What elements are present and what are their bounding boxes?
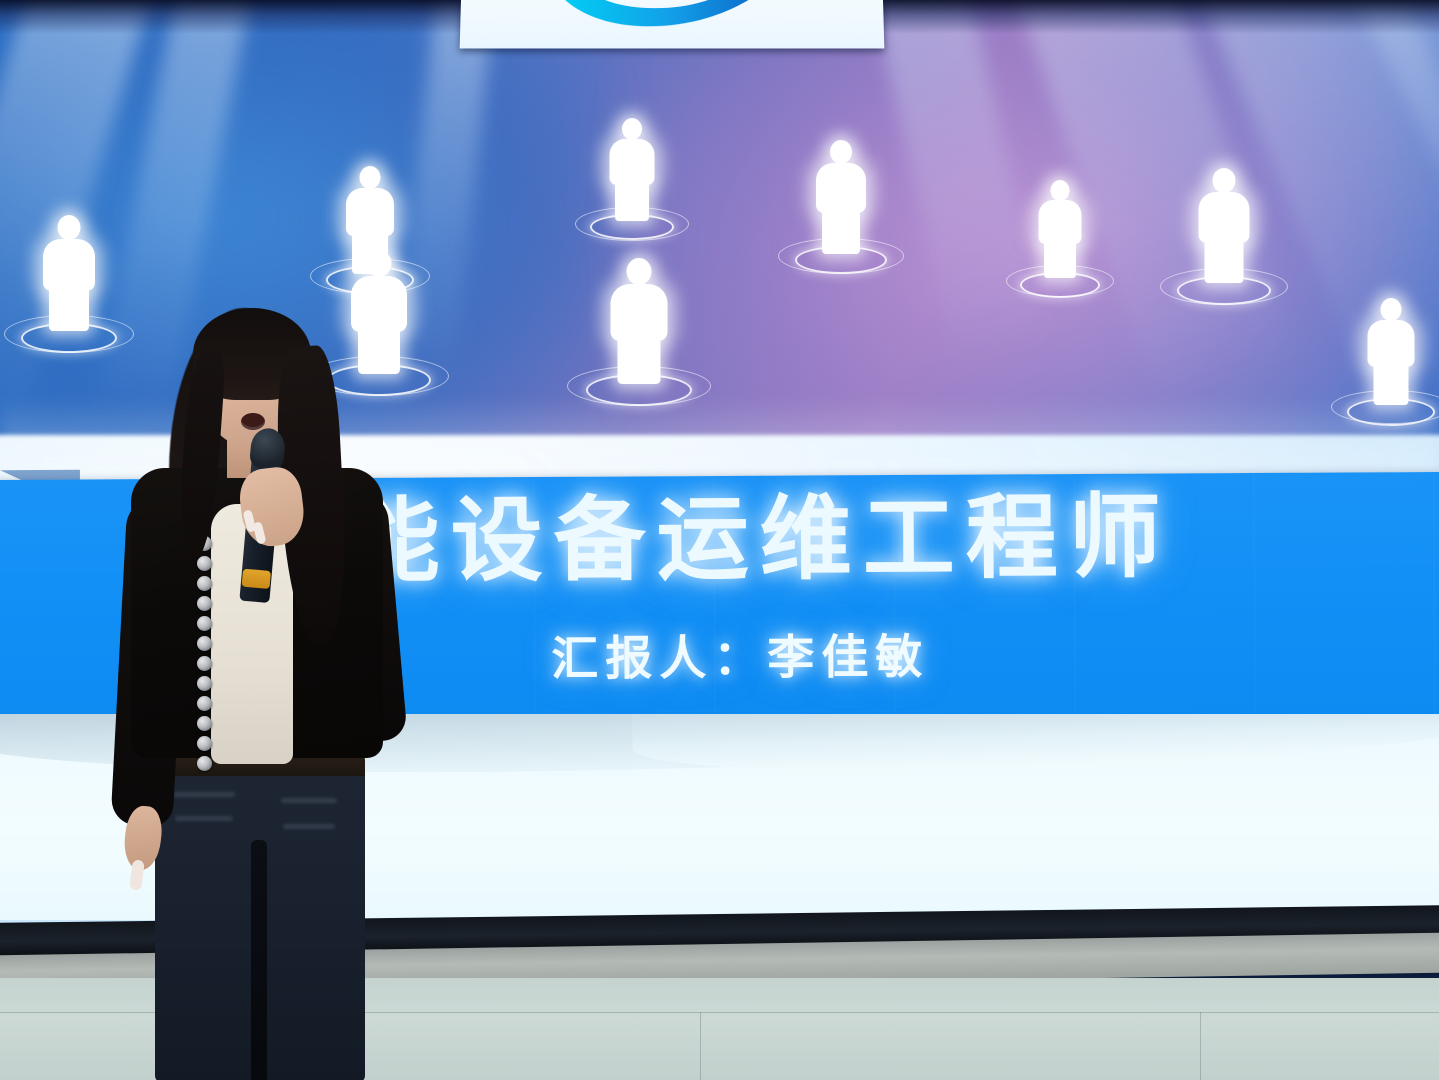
cardigan-button <box>197 716 212 731</box>
jeans-inseam <box>251 840 267 1080</box>
jeans-fade <box>281 798 337 803</box>
cardigan-button <box>197 596 212 611</box>
screen-curve <box>631 714 1439 776</box>
cardigan-button <box>197 556 212 571</box>
floor-seam <box>1200 1012 1201 1080</box>
jeans-fade <box>175 816 233 821</box>
person-silhouette <box>1030 180 1090 290</box>
person-silhouette <box>1358 298 1424 418</box>
cardigan-button <box>197 676 212 691</box>
swoosh-logo-icon <box>533 0 826 36</box>
jeans-fade <box>283 824 335 829</box>
floor-seam <box>700 1012 701 1080</box>
presenter-mouth <box>241 413 265 430</box>
presenter <box>95 300 425 1080</box>
cardigan-button <box>197 576 212 591</box>
stage-photo-scene: 能设备运维工程师 汇报人：李佳敏 <box>0 0 1439 1080</box>
cardigan-button <box>197 656 212 671</box>
cardigan-button <box>197 696 212 711</box>
presenter-fingernail <box>129 859 145 890</box>
microphone-band <box>242 569 271 589</box>
top-logo-banner <box>460 0 885 48</box>
person-silhouette <box>1188 168 1260 296</box>
person-silhouette <box>806 140 876 266</box>
cardigan-button <box>197 616 212 631</box>
cardigan-button <box>197 756 212 771</box>
cardigan-button <box>197 636 212 651</box>
cardigan-button-row <box>197 536 217 762</box>
person-silhouette <box>600 258 678 396</box>
jeans-fade <box>173 792 235 797</box>
cardigan-button <box>197 736 212 751</box>
person-silhouette <box>600 118 664 234</box>
